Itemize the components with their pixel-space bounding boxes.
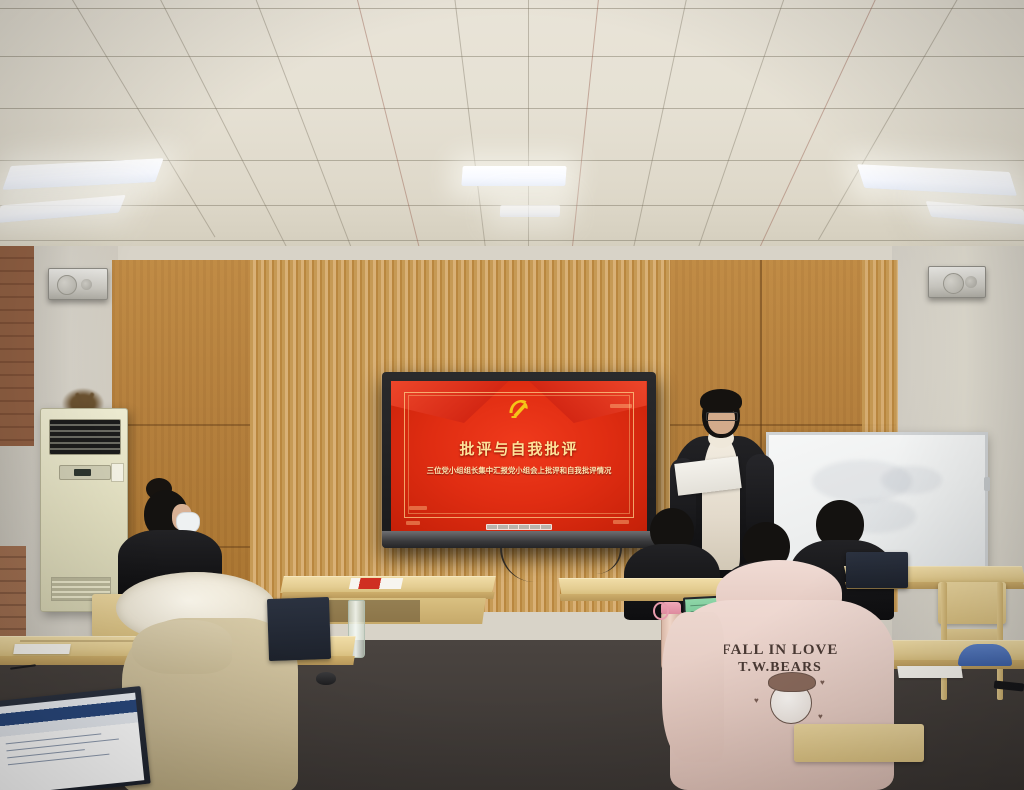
bear-beret-icon	[768, 672, 816, 692]
wall-mounted-interactive-display[interactable]: 批评与自我批评 三位党小组组长集中汇报党小组会上批评和自我批评情况	[382, 372, 656, 548]
ceiling-light-5	[500, 205, 561, 217]
display-bezel-chin	[382, 531, 656, 548]
slide-subtitle: 三位党小组组长集中汇报党小组会上批评和自我批评情况	[391, 465, 647, 476]
heart-icon-1: ♥	[754, 696, 759, 705]
display-taskbar[interactable]	[486, 524, 553, 530]
speaker-left	[48, 268, 108, 300]
ac-control-panel[interactable]	[59, 465, 111, 480]
chair-foreground-right[interactable]	[794, 724, 924, 790]
whiteboard-side-clip	[984, 477, 990, 491]
speaker-right	[928, 266, 986, 298]
slide-title: 批评与自我批评	[391, 438, 647, 459]
ceiling-light-3	[857, 164, 1017, 196]
presenter-hair	[700, 389, 742, 413]
printed-papers-left[interactable]	[13, 644, 71, 654]
display-screen[interactable]: 批评与自我批评 三位党小组组长集中汇报党小组会上批评和自我批评情况	[391, 381, 647, 531]
presenter-glasses	[706, 412, 738, 421]
brick-column-left	[0, 246, 34, 446]
ceiling-light-1	[2, 158, 163, 190]
suspended-ceiling-grid	[0, 0, 1024, 262]
laptop-screen-document[interactable]	[0, 693, 144, 790]
heart-icon-2: ♥	[820, 678, 825, 687]
heart-icon-3: ♥	[818, 712, 823, 721]
pink-jacket-shoulder	[662, 612, 724, 762]
laptop-center[interactable]	[267, 597, 331, 661]
laptop-foreground-left[interactable]	[0, 686, 151, 790]
laptop-center-right[interactable]	[846, 552, 908, 588]
classroom-photo: 批评与自我批评 三位党小组组长集中汇报党小组会上批评和自我批评情况	[0, 0, 1024, 790]
ac-intake-grille	[49, 419, 121, 455]
computer-mouse[interactable]	[316, 672, 336, 685]
beige-parka-hood-fold	[132, 620, 232, 674]
blue-folder[interactable]	[958, 644, 1012, 666]
ceiling-light-4	[0, 195, 126, 223]
red-white-document[interactable]	[349, 578, 403, 589]
printed-papers-right[interactable]	[897, 666, 963, 678]
ceiling-light-2	[461, 166, 566, 186]
cpc-hammer-sickle-emblem	[507, 398, 532, 420]
